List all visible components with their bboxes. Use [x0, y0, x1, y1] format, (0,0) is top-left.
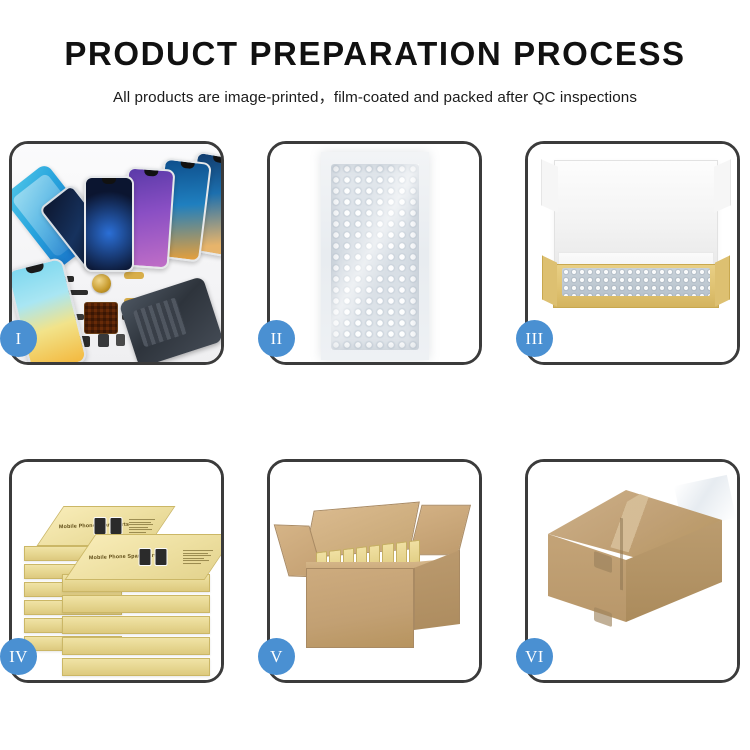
box-slab	[62, 616, 210, 634]
step-badge-3: III	[516, 320, 553, 357]
page-title: PRODUCT PREPARATION PROCESS	[0, 36, 750, 72]
box-product-thumbnails	[94, 517, 123, 535]
wrapped-product-in-box-icon	[562, 268, 710, 296]
phone-screen-1-icon	[84, 176, 134, 272]
open-carton-scene	[270, 462, 479, 680]
speaker-part-icon	[98, 334, 109, 347]
inner-box-scene	[528, 144, 737, 362]
header: PRODUCT PREPARATION PROCESS All products…	[0, 0, 750, 107]
panel-step-4: Mobile Phone Spare Parts	[9, 459, 224, 683]
carton-front-panel-icon	[306, 568, 414, 648]
step-badge-5: V	[258, 638, 295, 675]
panel-step-1: I	[9, 141, 224, 365]
step-badge-6: VI	[516, 638, 553, 675]
phone-chassis-icon	[119, 276, 221, 362]
page-subtitle: All products are image-printed，film-coat…	[0, 85, 750, 107]
chip-array-part-icon	[84, 302, 118, 334]
vibrator-part-icon	[116, 334, 125, 346]
box-spec-lines	[183, 550, 213, 564]
box-lid-icon	[554, 160, 718, 264]
box-spec-lines	[129, 519, 155, 533]
step-badge-1: I	[0, 320, 37, 357]
sealed-carton-scene	[528, 462, 737, 680]
box-stack-group: Mobile Phone Spare Parts	[18, 476, 218, 672]
panel-step-3: III	[525, 141, 740, 365]
copper-coil-part-icon	[92, 274, 111, 293]
phone-parts-scene	[12, 144, 221, 362]
product-preparation-infographic: PRODUCT PREPARATION PROCESS All products…	[0, 0, 750, 750]
gold-flex-part-icon	[124, 272, 144, 279]
bubble-wrap-icon	[331, 164, 419, 350]
panel-step-6: VI	[525, 459, 740, 683]
panel-image-bubble-wrap	[270, 144, 479, 362]
panel-step-5: V	[267, 459, 482, 683]
bubble-wrap-scene	[270, 144, 479, 362]
phone-fan-group	[80, 154, 221, 272]
box-slab	[62, 595, 210, 613]
panel-image-sealed-carton	[528, 462, 737, 680]
panel-image-inner-box	[528, 144, 737, 362]
process-step-grid: I II III	[9, 141, 740, 683]
box-slab	[62, 637, 210, 655]
step-badge-2: II	[258, 320, 295, 357]
carton-corner-seam	[620, 518, 623, 591]
panel-image-open-carton	[270, 462, 479, 680]
box-slab	[62, 658, 210, 676]
step-badge-4: IV	[0, 638, 37, 675]
panel-image-stacked-boxes: Mobile Phone Spare Parts	[12, 462, 221, 680]
panel-image-phone-parts	[12, 144, 221, 362]
stacked-boxes-scene: Mobile Phone Spare Parts	[12, 462, 221, 680]
box-product-thumbnails	[138, 548, 167, 566]
panel-step-2: II	[267, 141, 482, 365]
